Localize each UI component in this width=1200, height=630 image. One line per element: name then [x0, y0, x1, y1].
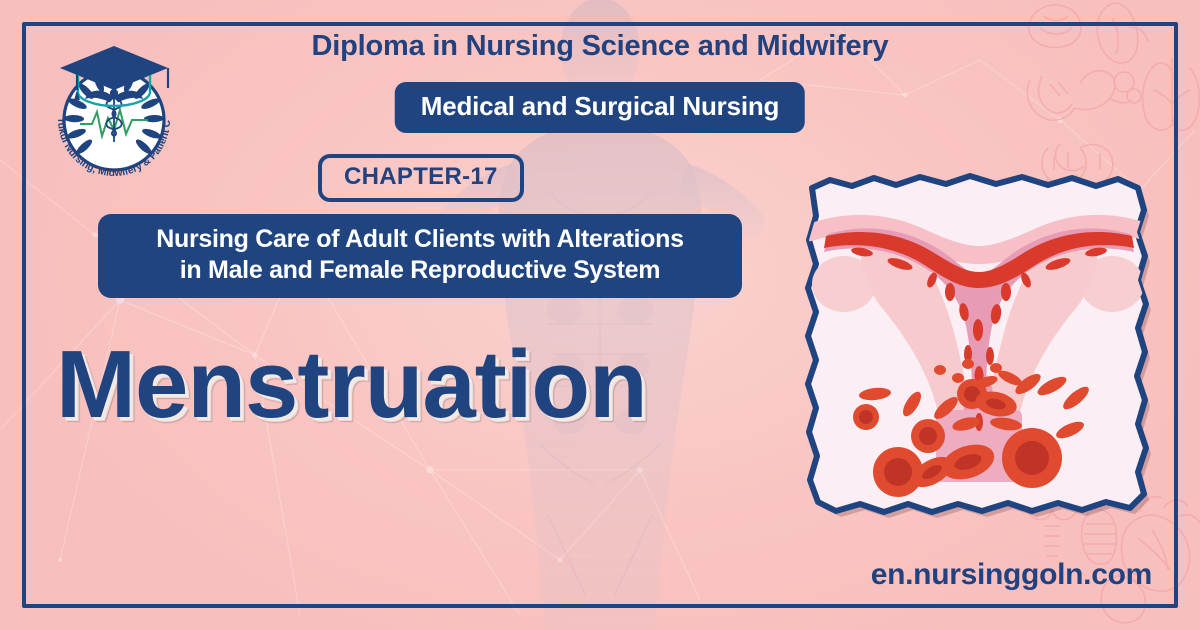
course-banner: Gurukul Nursing, Midwifery & Patient Car… [0, 0, 1200, 630]
subtitle-line-1: Nursing Care of Adult Clients with Alter… [156, 225, 683, 253]
course-label-badge: Medical and Surgical Nursing [395, 82, 805, 133]
subtitle-line-2: in Male and Female Reproductive System [112, 255, 728, 286]
chapter-badge: CHAPTER-17 [318, 154, 524, 202]
uterus-menstruation-illustration [800, 172, 1158, 522]
diploma-title: Diploma in Nursing Science and Midwifery [230, 30, 970, 63]
gurukul-nursing-logo: Gurukul Nursing, Midwifery & Patient Car… [44, 38, 184, 186]
page-title: Menstruation [56, 330, 647, 440]
chapter-subtitle-banner: Nursing Care of Adult Clients with Alter… [98, 214, 742, 298]
site-url: en.nursinggoln.com [871, 558, 1152, 592]
